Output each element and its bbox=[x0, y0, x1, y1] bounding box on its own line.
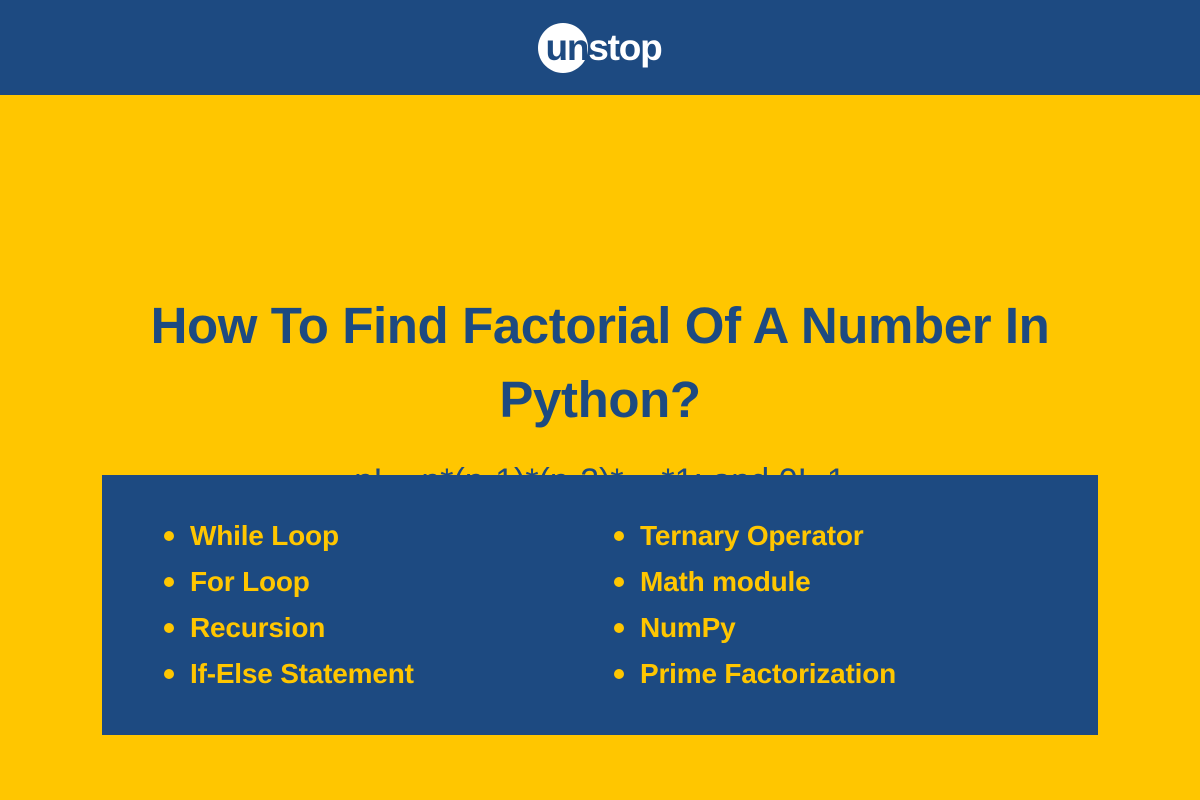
bullet-dot-icon bbox=[164, 531, 174, 541]
methods-column-left: While Loop For Loop Recursion If-Else St… bbox=[164, 513, 614, 697]
method-label: NumPy bbox=[640, 612, 735, 644]
list-item: NumPy bbox=[614, 605, 1084, 651]
list-item: Ternary Operator bbox=[614, 513, 1084, 559]
poster-body: How To Find Factorial Of A Number In Pyt… bbox=[0, 95, 1200, 800]
method-label: If-Else Statement bbox=[190, 658, 414, 690]
methods-column-right: Ternary Operator Math module NumPy Prime… bbox=[614, 513, 1084, 697]
method-label: Ternary Operator bbox=[640, 520, 863, 552]
bullet-dot-icon bbox=[614, 623, 624, 633]
header-band: un stop bbox=[0, 0, 1200, 95]
method-label: Recursion bbox=[190, 612, 325, 644]
method-label: While Loop bbox=[190, 520, 339, 552]
list-item: Prime Factorization bbox=[614, 651, 1084, 697]
bullet-dot-icon bbox=[614, 531, 624, 541]
infographic-poster: un stop How To Find Factorial Of A Numbe… bbox=[0, 0, 1200, 800]
list-item: If-Else Statement bbox=[164, 651, 614, 697]
logo-text-stop: stop bbox=[588, 22, 661, 74]
methods-panel: While Loop For Loop Recursion If-Else St… bbox=[102, 475, 1098, 735]
list-item: While Loop bbox=[164, 513, 614, 559]
method-label: Prime Factorization bbox=[640, 658, 896, 690]
list-item: For Loop bbox=[164, 559, 614, 605]
method-label: For Loop bbox=[190, 566, 310, 598]
list-item: Recursion bbox=[164, 605, 614, 651]
method-label: Math module bbox=[640, 566, 810, 598]
unstop-logo[interactable]: un stop bbox=[538, 22, 661, 74]
logo-text-un: un bbox=[538, 22, 588, 74]
bullet-dot-icon bbox=[614, 669, 624, 679]
bullet-dot-icon bbox=[614, 577, 624, 587]
bullet-dot-icon bbox=[164, 577, 174, 587]
bullet-dot-icon bbox=[164, 623, 174, 633]
list-item: Math module bbox=[614, 559, 1084, 605]
bullet-dot-icon bbox=[164, 669, 174, 679]
page-title: How To Find Factorial Of A Number In Pyt… bbox=[80, 289, 1120, 437]
